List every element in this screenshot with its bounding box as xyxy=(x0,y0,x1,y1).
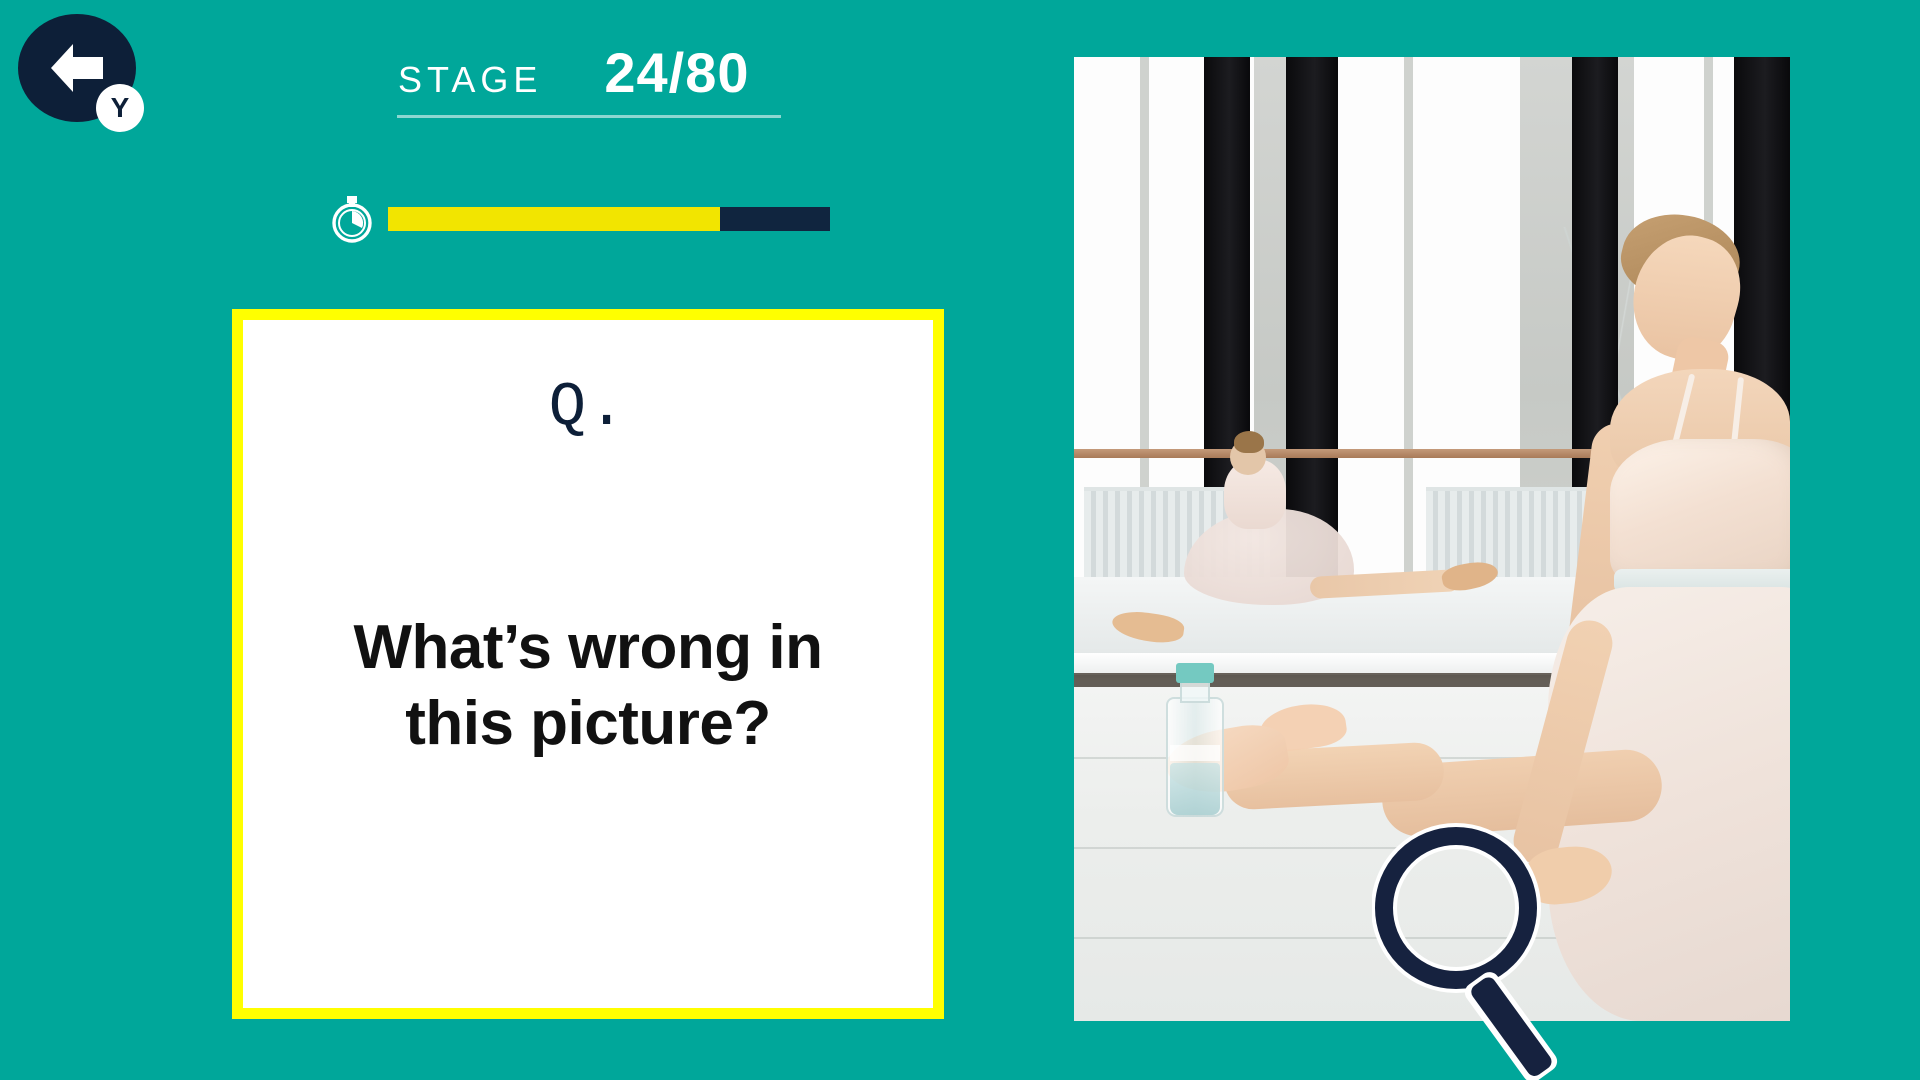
back-button[interactable]: Y xyxy=(18,14,136,122)
question-card: Q. What’s wrong in this picture? xyxy=(232,309,944,1019)
stage-underline xyxy=(397,115,781,118)
stage-counter: 24/80 xyxy=(604,45,749,101)
timer-bar xyxy=(330,195,830,243)
window-mullion-2 xyxy=(1404,57,1413,613)
question-line-1: What’s wrong in xyxy=(277,610,899,686)
stage-header: STAGE 24/80 xyxy=(398,45,788,118)
question-prefix: Q. xyxy=(243,372,933,443)
question-text: What’s wrong in this picture? xyxy=(277,610,899,761)
puzzle-photo[interactable] xyxy=(1074,57,1790,1021)
y-button-badge[interactable]: Y xyxy=(96,84,144,132)
water-bottle-cap xyxy=(1176,663,1214,683)
reflection-hair-bun xyxy=(1234,431,1264,453)
stage-label: STAGE xyxy=(398,59,542,101)
timer-track xyxy=(388,207,830,231)
dancer-bodice xyxy=(1610,439,1790,589)
water-bottle-water xyxy=(1170,763,1220,815)
arrow-left-icon xyxy=(47,40,107,96)
question-line-2: this picture? xyxy=(277,686,899,762)
water-bottle-label xyxy=(1170,745,1220,761)
timer-fill xyxy=(388,207,720,231)
stopwatch-icon xyxy=(330,195,374,243)
stage-row: STAGE 24/80 xyxy=(398,45,788,115)
